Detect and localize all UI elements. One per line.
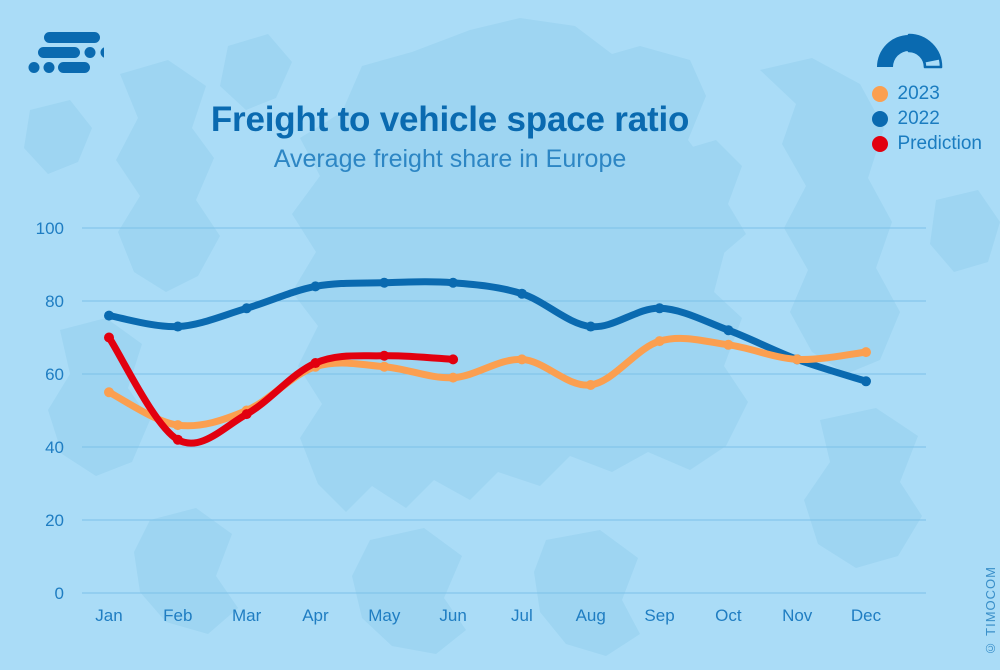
x-axis-tick-label: Jul <box>511 606 533 625</box>
y-axis-tick-label: 100 <box>36 219 64 238</box>
legend-item-2023[interactable]: 2023 <box>872 84 983 103</box>
data-point <box>517 289 527 299</box>
title-block: Freight to vehicle space ratio Average f… <box>0 100 900 174</box>
data-point <box>448 373 458 383</box>
data-point <box>861 376 871 386</box>
x-axis-tick-label: Oct <box>715 606 742 625</box>
timocom-logo <box>28 30 104 78</box>
x-axis-tick-label: Sep <box>644 606 674 625</box>
page-title: Freight to vehicle space ratio <box>0 100 900 140</box>
data-point <box>173 322 183 332</box>
y-axis-tick-labels: 020406080100 <box>36 219 64 603</box>
x-axis-tick-label: Apr <box>302 606 329 625</box>
data-point <box>104 333 114 343</box>
series-line-2023 <box>109 338 866 425</box>
data-point <box>242 303 252 313</box>
legend-item-2022[interactable]: 2022 <box>872 109 983 128</box>
series-prediction <box>104 333 458 445</box>
data-point <box>104 311 114 321</box>
gridlines <box>82 228 926 593</box>
legend-label-prediction: Prediction <box>898 134 983 153</box>
gauge-icon <box>874 32 944 70</box>
data-point <box>173 435 183 445</box>
x-axis-tick-label: Nov <box>782 606 813 625</box>
data-point <box>379 351 389 361</box>
y-axis-tick-label: 0 <box>55 584 64 603</box>
y-axis-tick-label: 40 <box>45 438 64 457</box>
y-axis-tick-label: 80 <box>45 292 64 311</box>
legend-dot-2022 <box>872 111 888 127</box>
x-axis-tick-label: Jan <box>95 606 122 625</box>
legend-item-prediction[interactable]: Prediction <box>872 134 983 153</box>
data-point <box>448 278 458 288</box>
data-point <box>242 409 252 419</box>
chart-legend: 2023 2022 Prediction <box>872 32 983 159</box>
series-2023 <box>104 336 871 430</box>
data-point <box>173 420 183 430</box>
data-point <box>310 358 320 368</box>
x-axis-tick-label: May <box>368 606 401 625</box>
data-point <box>723 340 733 350</box>
legend-dot-2023 <box>872 86 888 102</box>
x-axis-tick-label: Mar <box>232 606 262 625</box>
x-axis-tick-label: Dec <box>851 606 882 625</box>
x-axis-tick-labels: JanFebMarAprMayJunJulAugSepOctNovDec <box>95 606 881 625</box>
x-axis-tick-label: Aug <box>576 606 606 625</box>
y-axis-tick-label: 60 <box>45 365 64 384</box>
data-point <box>586 380 596 390</box>
page-subtitle: Average freight share in Europe <box>0 144 900 174</box>
data-point <box>655 303 665 313</box>
data-point <box>310 281 320 291</box>
data-series-layer <box>104 278 871 445</box>
copyright-notice: © TIMOCOM <box>983 566 998 656</box>
data-point <box>448 354 458 364</box>
data-point <box>861 347 871 357</box>
data-point <box>792 354 802 364</box>
legend-dot-prediction <box>872 136 888 152</box>
data-point <box>379 362 389 372</box>
data-point <box>586 322 596 332</box>
legend-label-2023: 2023 <box>898 84 940 103</box>
data-point <box>379 278 389 288</box>
data-point <box>517 354 527 364</box>
series-line-prediction <box>109 338 453 444</box>
data-point <box>723 325 733 335</box>
x-axis-tick-label: Jun <box>439 606 466 625</box>
x-axis-tick-label: Feb <box>163 606 192 625</box>
y-axis-tick-label: 20 <box>45 511 64 530</box>
data-point <box>104 387 114 397</box>
legend-label-2022: 2022 <box>898 109 940 128</box>
data-point <box>655 336 665 346</box>
